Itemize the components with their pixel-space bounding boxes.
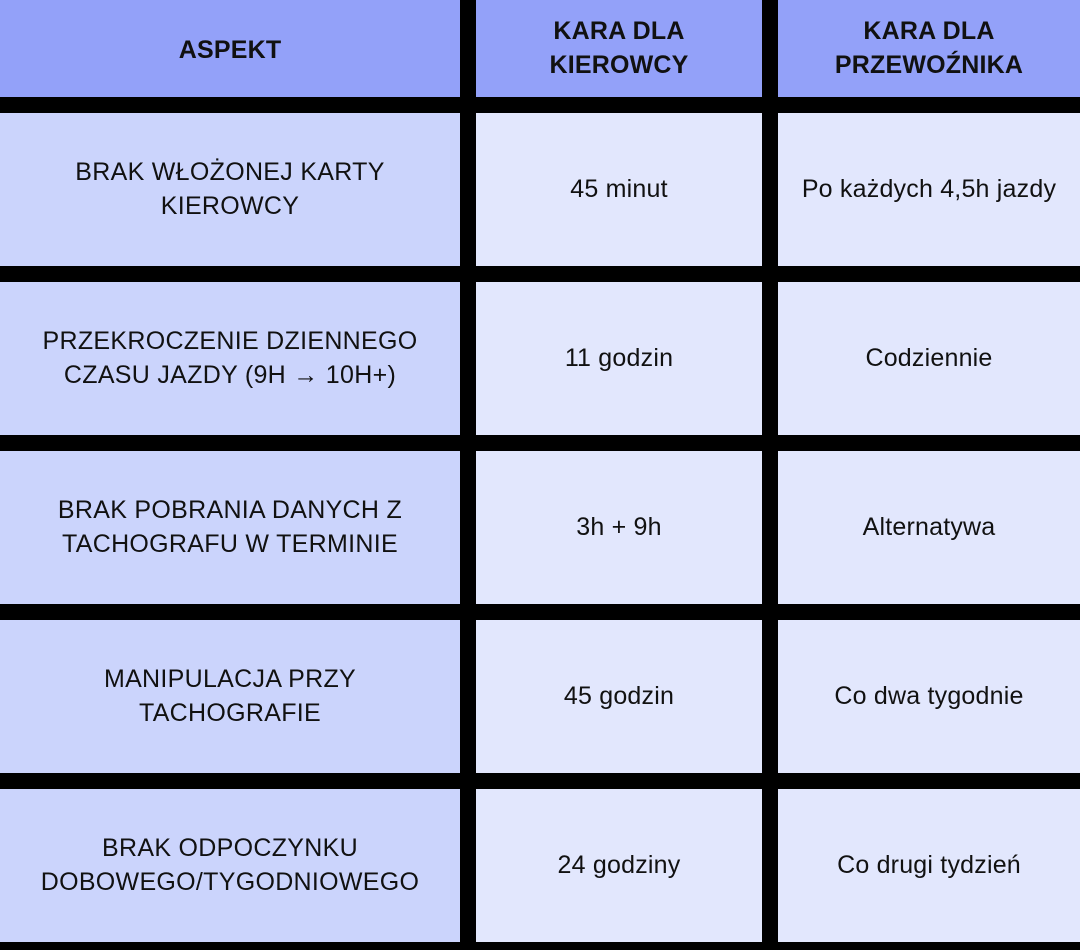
table-row: 11 godzin	[476, 282, 762, 435]
column-header-kara-przewoznika: KARA DLA PRZEWOŹNIKA	[778, 0, 1080, 97]
cell-kara-przewoznika: Co drugi tydzień	[796, 849, 1062, 883]
table-row: 24 godziny	[476, 789, 762, 942]
cell-kara-kierowcy: 24 godziny	[494, 849, 744, 883]
column-header-aspekt-label: ASPEKT	[18, 34, 442, 68]
column-header-aspekt: ASPEKT	[0, 0, 460, 97]
column-header-kara-kierowcy: KARA DLA KIEROWCY	[476, 0, 762, 97]
cell-kara-przewoznika: Codziennie	[796, 342, 1062, 376]
cell-aspekt: BRAK ODPOCZYNKU DOBOWEGO/TYGODNIOWEGO	[18, 832, 442, 899]
cell-kara-kierowcy: 45 godzin	[494, 680, 744, 714]
cell-kara-kierowcy: 3h + 9h	[494, 511, 744, 545]
cell-kara-przewoznika: Po każdych 4,5h jazdy	[796, 173, 1062, 207]
table-row: Codziennie	[778, 282, 1080, 435]
table-row: Co drugi tydzień	[778, 789, 1080, 942]
cell-kara-kierowcy: 11 godzin	[494, 342, 744, 376]
cell-aspekt: MANIPULACJA PRZY TACHOGRAFIE	[18, 663, 442, 730]
table-row: Co dwa tygodnie	[778, 620, 1080, 773]
cell-aspekt: BRAK POBRANIA DANYCH Z TACHOGRAFU W TERM…	[18, 494, 442, 561]
table-row: PRZEKROCZENIE DZIENNEGO CZASU JAZDY (9H …	[0, 282, 460, 435]
table-row: BRAK POBRANIA DANYCH Z TACHOGRAFU W TERM…	[0, 451, 460, 604]
table-row: Alternatywa	[778, 451, 1080, 604]
table-row: Po każdych 4,5h jazdy	[778, 113, 1080, 266]
cell-kara-kierowcy: 45 minut	[494, 173, 744, 207]
table-row: 45 minut	[476, 113, 762, 266]
table-row: BRAK ODPOCZYNKU DOBOWEGO/TYGODNIOWEGO	[0, 789, 460, 942]
column-header-kara-przewoznika-label: KARA DLA PRZEWOŹNIKA	[796, 15, 1062, 82]
comparison-table: ASPEKT KARA DLA KIEROWCY KARA DLA PRZEWO…	[0, 0, 1080, 950]
column-header-kara-kierowcy-label: KARA DLA KIEROWCY	[494, 15, 744, 82]
cell-kara-przewoznika: Co dwa tygodnie	[796, 680, 1062, 714]
table-row: 45 godzin	[476, 620, 762, 773]
table-row: 3h + 9h	[476, 451, 762, 604]
table-row: BRAK WŁOŻONEJ KARTY KIEROWCY	[0, 113, 460, 266]
cell-aspekt: PRZEKROCZENIE DZIENNEGO CZASU JAZDY (9H …	[18, 325, 442, 392]
cell-aspekt: BRAK WŁOŻONEJ KARTY KIEROWCY	[18, 156, 442, 223]
table-row: MANIPULACJA PRZY TACHOGRAFIE	[0, 620, 460, 773]
cell-kara-przewoznika: Alternatywa	[796, 511, 1062, 545]
